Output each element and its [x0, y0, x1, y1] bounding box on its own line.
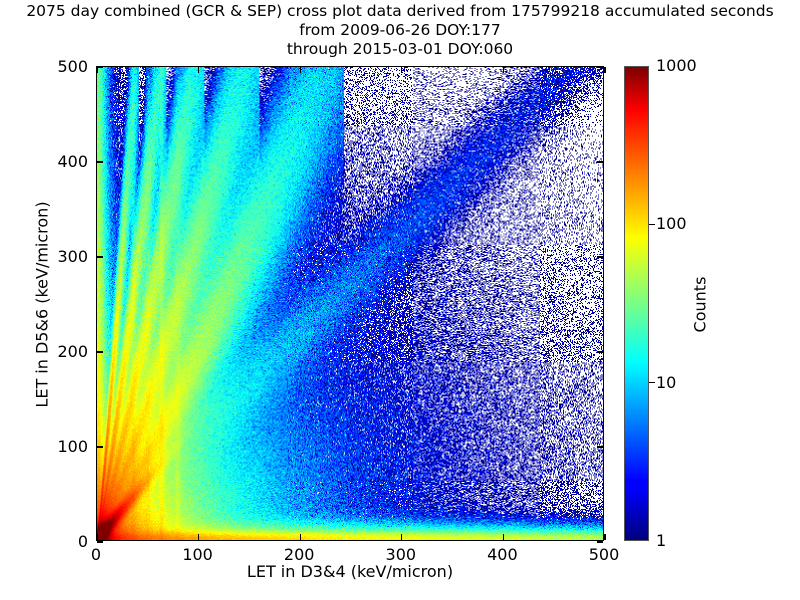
colorbar	[624, 66, 649, 541]
y-ticklabel: 500	[28, 57, 88, 76]
figure-canvas: 2075 day combined (GCR & SEP) cross plot…	[0, 0, 800, 600]
y-tick	[97, 541, 103, 542]
y-tick-right	[597, 446, 603, 447]
y-tick-right	[597, 66, 603, 67]
x-tick	[300, 534, 301, 540]
colorbar-label: Counts	[691, 225, 710, 385]
x-tick	[198, 534, 199, 540]
y-tick-right	[597, 351, 603, 352]
colorbar-ticklabel: 10	[656, 373, 676, 392]
x-tick	[503, 534, 504, 540]
colorbar-ticklabel: 1	[656, 531, 666, 550]
x-tick	[401, 534, 402, 540]
y-tick	[97, 161, 103, 162]
y-tick	[97, 351, 103, 352]
x-tick-top	[96, 67, 97, 73]
y-ticklabel: 400	[28, 152, 88, 171]
y-tick	[97, 66, 103, 67]
x-tick-top	[401, 67, 402, 73]
y-tick-right	[597, 256, 603, 257]
y-ticklabel: 0	[28, 532, 88, 551]
y-tick	[97, 256, 103, 257]
plot-title-line-1: 2075 day combined (GCR & SEP) cross plot…	[0, 2, 800, 21]
x-tick-top	[503, 67, 504, 73]
plot-area	[96, 66, 604, 541]
colorbar-tick	[649, 224, 655, 225]
x-tick-top	[198, 67, 199, 73]
x-axis-label: LET in D3&4 (keV/micron)	[96, 562, 604, 581]
x-tick	[604, 534, 605, 540]
density-heatmap	[97, 67, 603, 540]
y-axis-label: LET in D5&6 (keV/micron)	[33, 175, 52, 435]
x-tick-top	[300, 67, 301, 73]
colorbar-tick	[649, 382, 655, 383]
colorbar-gradient	[625, 67, 648, 540]
y-tick-right	[597, 541, 603, 542]
plot-title-line-2: from 2009-06-26 DOY:177	[0, 21, 800, 40]
colorbar-ticklabel: 1000	[656, 56, 697, 75]
y-tick-right	[597, 161, 603, 162]
y-ticklabel: 100	[28, 437, 88, 456]
y-tick	[97, 446, 103, 447]
x-tick-top	[604, 67, 605, 73]
colorbar-ticklabel: 100	[656, 214, 687, 233]
x-tick	[96, 534, 97, 540]
